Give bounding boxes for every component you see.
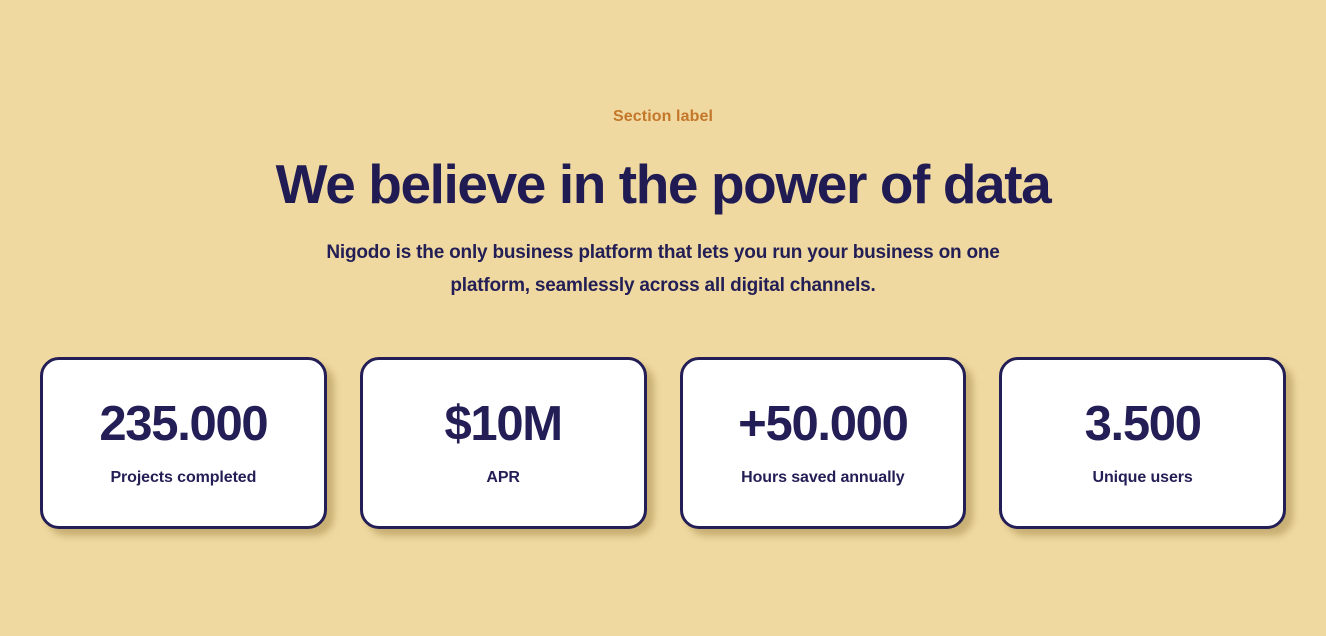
section-label: Section label (0, 106, 1326, 128)
section-header: Section label We believe in the power of… (0, 0, 1326, 302)
stat-card: +50.000 Hours saved annually (680, 357, 967, 529)
section-subtitle: Nigodo is the only business platform tha… (293, 236, 1033, 302)
stat-card: 235.000 Projects completed (40, 357, 327, 529)
stats-card-row: 235.000 Projects completed $10M APR +50.… (40, 357, 1286, 529)
stat-value: $10M (444, 397, 561, 451)
stat-label: APR (486, 467, 519, 489)
stat-card: $10M APR (360, 357, 647, 529)
stat-label: Hours saved annually (741, 467, 904, 489)
stats-section: Section label We believe in the power of… (0, 0, 1326, 636)
stat-value: 235.000 (99, 397, 267, 451)
stat-card: 3.500 Unique users (999, 357, 1286, 529)
stat-label: Projects completed (110, 467, 256, 489)
stat-value: +50.000 (738, 397, 907, 451)
stat-value: 3.500 (1085, 397, 1201, 451)
stat-label: Unique users (1093, 467, 1193, 489)
page-title: We believe in the power of data (0, 154, 1326, 214)
